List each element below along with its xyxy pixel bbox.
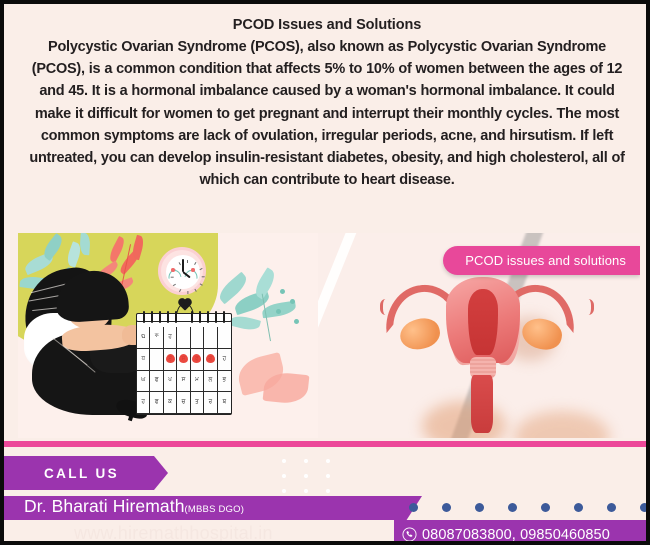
vaginal-canal	[471, 375, 493, 433]
calendar-cell: ਧ	[137, 349, 150, 371]
article-text-block: PCOD Issues and Solutions Polycystic Ova…	[24, 14, 630, 191]
phone-band[interactable]: 08087083800, 09850460850	[394, 520, 650, 545]
calendar-ring	[175, 311, 177, 323]
clock-minute-hand	[182, 259, 184, 272]
pink-divider	[4, 441, 650, 447]
calendar-cell: ক	[150, 327, 163, 349]
soft-background-blob	[422, 401, 506, 438]
calendar-cell: ਫ	[150, 371, 163, 393]
pcod-badge-label: PCOD issues and solutions	[465, 253, 626, 268]
calendar-cell: ਘ	[137, 371, 150, 393]
calendar-cell: ਭ	[218, 371, 231, 393]
calendar-cell: ਱	[150, 349, 163, 371]
calendar-ring	[191, 311, 193, 323]
calendar-ring	[151, 311, 153, 323]
clock-tick	[201, 276, 204, 277]
calendar-ring	[159, 311, 161, 323]
website-url: www.hiremathhospital.in	[74, 523, 273, 544]
soft-background-blob	[514, 411, 610, 438]
calendar-cell: ਹ	[164, 327, 177, 349]
page-title: PCOD Issues and Solutions	[24, 14, 630, 36]
grid-dot	[326, 459, 330, 463]
leaf-decoration	[229, 314, 261, 333]
grid-dot	[304, 459, 308, 463]
navy-dot	[442, 503, 451, 512]
calendar-cell-marked: ਫ	[191, 349, 204, 371]
anatomy-scene: PCOD issues and solutions	[318, 233, 640, 438]
doctor-qualification: (MBBS DGO)	[185, 504, 245, 515]
calendar-cell: ਹ	[137, 392, 150, 414]
calendar: ପ ক ਹ ਧ ਱ ਏ ਸ ਫ ਗ ਹ ਘ ਫ ਪ	[136, 317, 232, 415]
calendar-cell: ਲ	[204, 371, 217, 393]
clock-face	[166, 255, 200, 289]
navy-dot	[574, 503, 583, 512]
pcod-badge: PCOD issues and solutions	[443, 246, 640, 275]
calendar-cell: ਬ	[218, 392, 231, 414]
endometrial-cavity	[468, 289, 498, 355]
grid-dot	[326, 489, 330, 493]
calendar-grid: ପ ক ਹ ਧ ਱ ਏ ਸ ਫ ਗ ਹ ਘ ਫ ਪ	[137, 327, 231, 414]
berry-dot	[294, 319, 299, 324]
clock-tick	[194, 262, 197, 266]
grid-dot	[282, 474, 286, 478]
pcod-awareness-poster: PCOD Issues and Solutions Polycystic Ova…	[0, 0, 650, 545]
leaf-decoration	[252, 267, 279, 299]
fimbriae-right	[580, 299, 594, 315]
clock-tick	[194, 288, 197, 292]
calendar-cell-marked: ਸ	[177, 349, 190, 371]
call-us-label: CALL US	[44, 456, 119, 490]
calendar-cell: ਸ	[177, 371, 190, 393]
grid-dot	[304, 489, 308, 493]
berry-dot	[290, 299, 295, 304]
calendar-ring	[207, 311, 209, 323]
doctor-name: Dr. Bharati Hiremath	[24, 496, 185, 517]
clock-tick	[199, 268, 203, 271]
calendar-cell: ਮ	[191, 371, 204, 393]
calendar-cell: ਕ	[164, 392, 177, 414]
clock-accent-dot	[171, 268, 175, 272]
berry-dot	[276, 309, 281, 314]
woman-with-calendar-scene: ପ ক ਹ ਧ ਱ ਏ ਸ ਫ ਗ ਹ ਘ ਫ ਪ	[18, 233, 318, 438]
navy-dot-row	[409, 498, 649, 516]
calendar-cell	[191, 327, 204, 349]
navy-dot	[541, 503, 550, 512]
clock-tick	[187, 291, 188, 294]
clock-tick	[187, 260, 188, 263]
calendar-cell: ପ	[137, 327, 150, 349]
calendar-cell: ਪ	[164, 371, 177, 393]
grid-dot	[304, 474, 308, 478]
wall-clock	[158, 247, 206, 295]
navy-dot	[409, 503, 418, 512]
call-us-banner-arrow	[154, 456, 168, 490]
clock-tick	[173, 283, 177, 286]
navy-dot	[475, 503, 484, 512]
calendar-cell-marked: ਏ	[164, 349, 177, 371]
navy-dot	[508, 503, 517, 512]
calendar-ring	[143, 311, 145, 323]
grid-dot	[282, 489, 286, 493]
fimbriae-left	[380, 299, 394, 315]
grid-dot	[282, 459, 286, 463]
navy-dot	[640, 503, 649, 512]
decorative-dot-grid	[273, 454, 339, 498]
phone-numbers: 08087083800, 09850460850	[422, 527, 610, 543]
calendar-ring	[215, 311, 217, 323]
calendar-cell-marked: ਗ	[204, 349, 217, 371]
calendar-ring	[199, 311, 201, 323]
clock-tick	[179, 262, 182, 266]
berry-dot	[280, 289, 285, 294]
clock-accent-dot	[191, 268, 195, 272]
navy-dot	[607, 503, 616, 512]
clock-tick	[199, 283, 203, 286]
calendar-cell: ਚ	[177, 392, 190, 414]
calendar-cell: ਤ	[191, 392, 204, 414]
calendar-cell	[204, 327, 217, 349]
article-body: Polycystic Ovarian Syndrome (PCOS), also…	[24, 36, 630, 191]
calendar-cell: ਫ	[150, 392, 163, 414]
calendar-ring	[167, 311, 169, 323]
calendar-cell: ਰ	[204, 392, 217, 414]
calendar-spiral-bar	[136, 313, 232, 322]
calendar-ring	[223, 311, 225, 323]
grid-dot	[326, 474, 330, 478]
clock-tick	[179, 288, 182, 292]
calendar-cell	[218, 327, 231, 349]
illustration-panel: ପ ক ਹ ਧ ਱ ਏ ਸ ਫ ਗ ਹ ਘ ਫ ਪ	[18, 233, 640, 443]
calendar-cell: ਹ	[218, 349, 231, 371]
phone-circle-icon	[402, 527, 417, 542]
calendar-cell	[177, 327, 190, 349]
white-diagonal-streak	[318, 233, 359, 412]
